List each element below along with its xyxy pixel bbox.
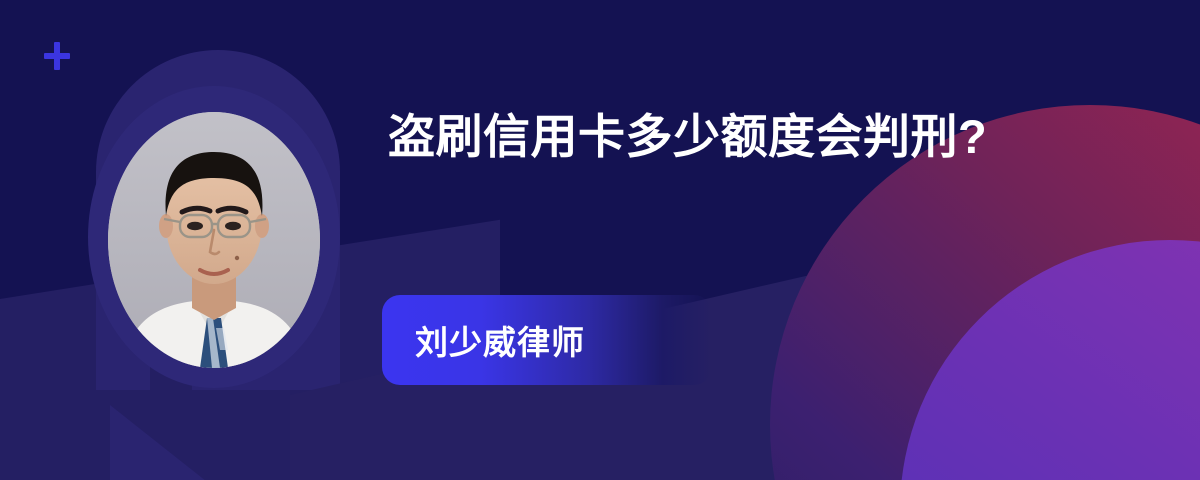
avatar-portrait-image: [108, 112, 320, 368]
lawyer-question-card: 盗刷信用卡多少额度会判刑? 刘少威律师: [0, 0, 1200, 480]
avatar: [88, 86, 340, 388]
plus-icon-bar-vertical: [54, 42, 60, 70]
page-title: 盗刷信用卡多少额度会判刑?: [388, 104, 1048, 171]
plus-icon: [44, 42, 70, 70]
author-button[interactable]: 刘少威律师: [382, 295, 712, 385]
card-content: 盗刷信用卡多少额度会判刑?: [388, 104, 1088, 171]
background-shape-triangle: [110, 405, 230, 480]
